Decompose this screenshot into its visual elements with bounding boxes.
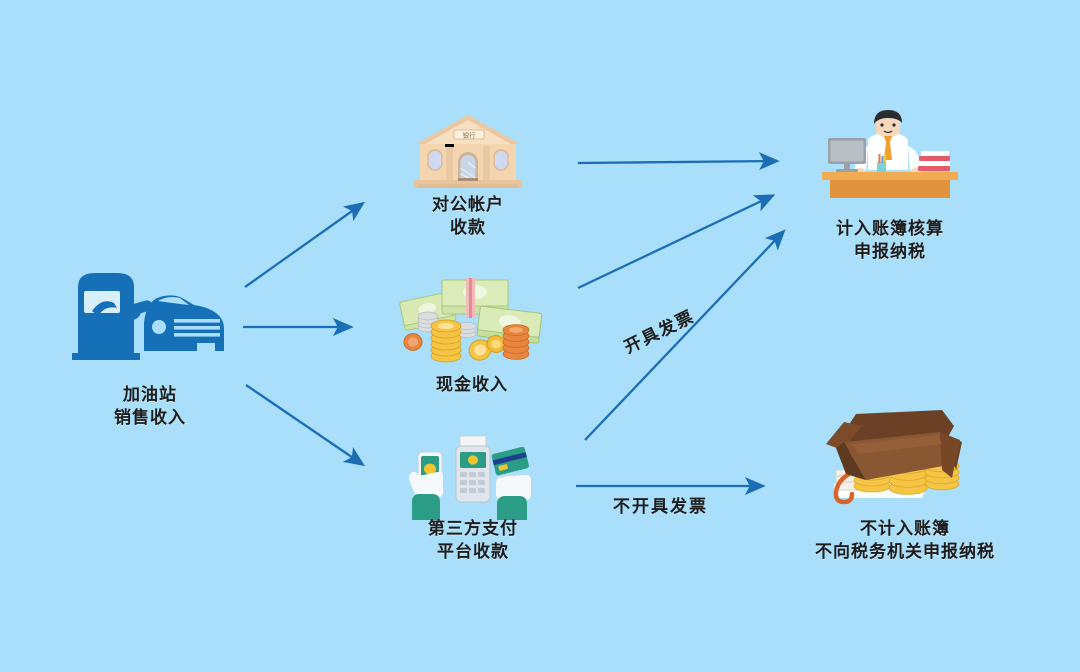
cash-banknotes-coins-icon xyxy=(396,272,548,364)
bank-sign-text: 银行 xyxy=(463,130,476,139)
caption-cash: 现金收入 xyxy=(392,374,552,397)
caption-bank: 对公帐户 收款 xyxy=(378,194,558,240)
node-gas-station xyxy=(70,265,230,365)
caption-gas-station: 加油站 销售收入 xyxy=(40,384,260,430)
node-cash xyxy=(396,272,548,364)
diagram-canvas: 开具发票 不开具发票 加油站 销售收入 xyxy=(0,0,1080,672)
caption-third-party-payment: 第三方支付 平台收款 xyxy=(378,518,568,564)
node-bookkeeping xyxy=(820,102,960,198)
bank-building-icon: 银行 xyxy=(412,112,524,190)
arrow-bank-to-bookkeeping xyxy=(578,161,776,163)
caption-bookkeeping: 计入账簿核算 申报纳税 xyxy=(800,218,980,264)
box-hiding-coins-icon xyxy=(822,408,972,508)
arrow-source-to-bank xyxy=(245,204,362,287)
accountant-at-desk-icon xyxy=(820,102,960,198)
node-third-party-payment xyxy=(400,432,550,524)
arrow-cash-to-bookkeeping xyxy=(578,196,772,288)
gas-station-pump-car-icon xyxy=(70,265,230,365)
edge-label-issue-invoice: 开具发票 xyxy=(619,302,698,358)
node-bank: 银行 xyxy=(412,112,524,190)
caption-hidden-income: 不计入账簿 不向税务机关申报纳税 xyxy=(780,518,1030,564)
node-hidden-income xyxy=(822,408,972,508)
third-party-payment-pos-icon xyxy=(400,432,550,524)
arrow-source-to-thirdparty xyxy=(246,385,362,464)
arrow-thirdparty-to-bookkeeping xyxy=(585,232,783,440)
edge-label-no-invoice: 不开具发票 xyxy=(613,492,708,517)
